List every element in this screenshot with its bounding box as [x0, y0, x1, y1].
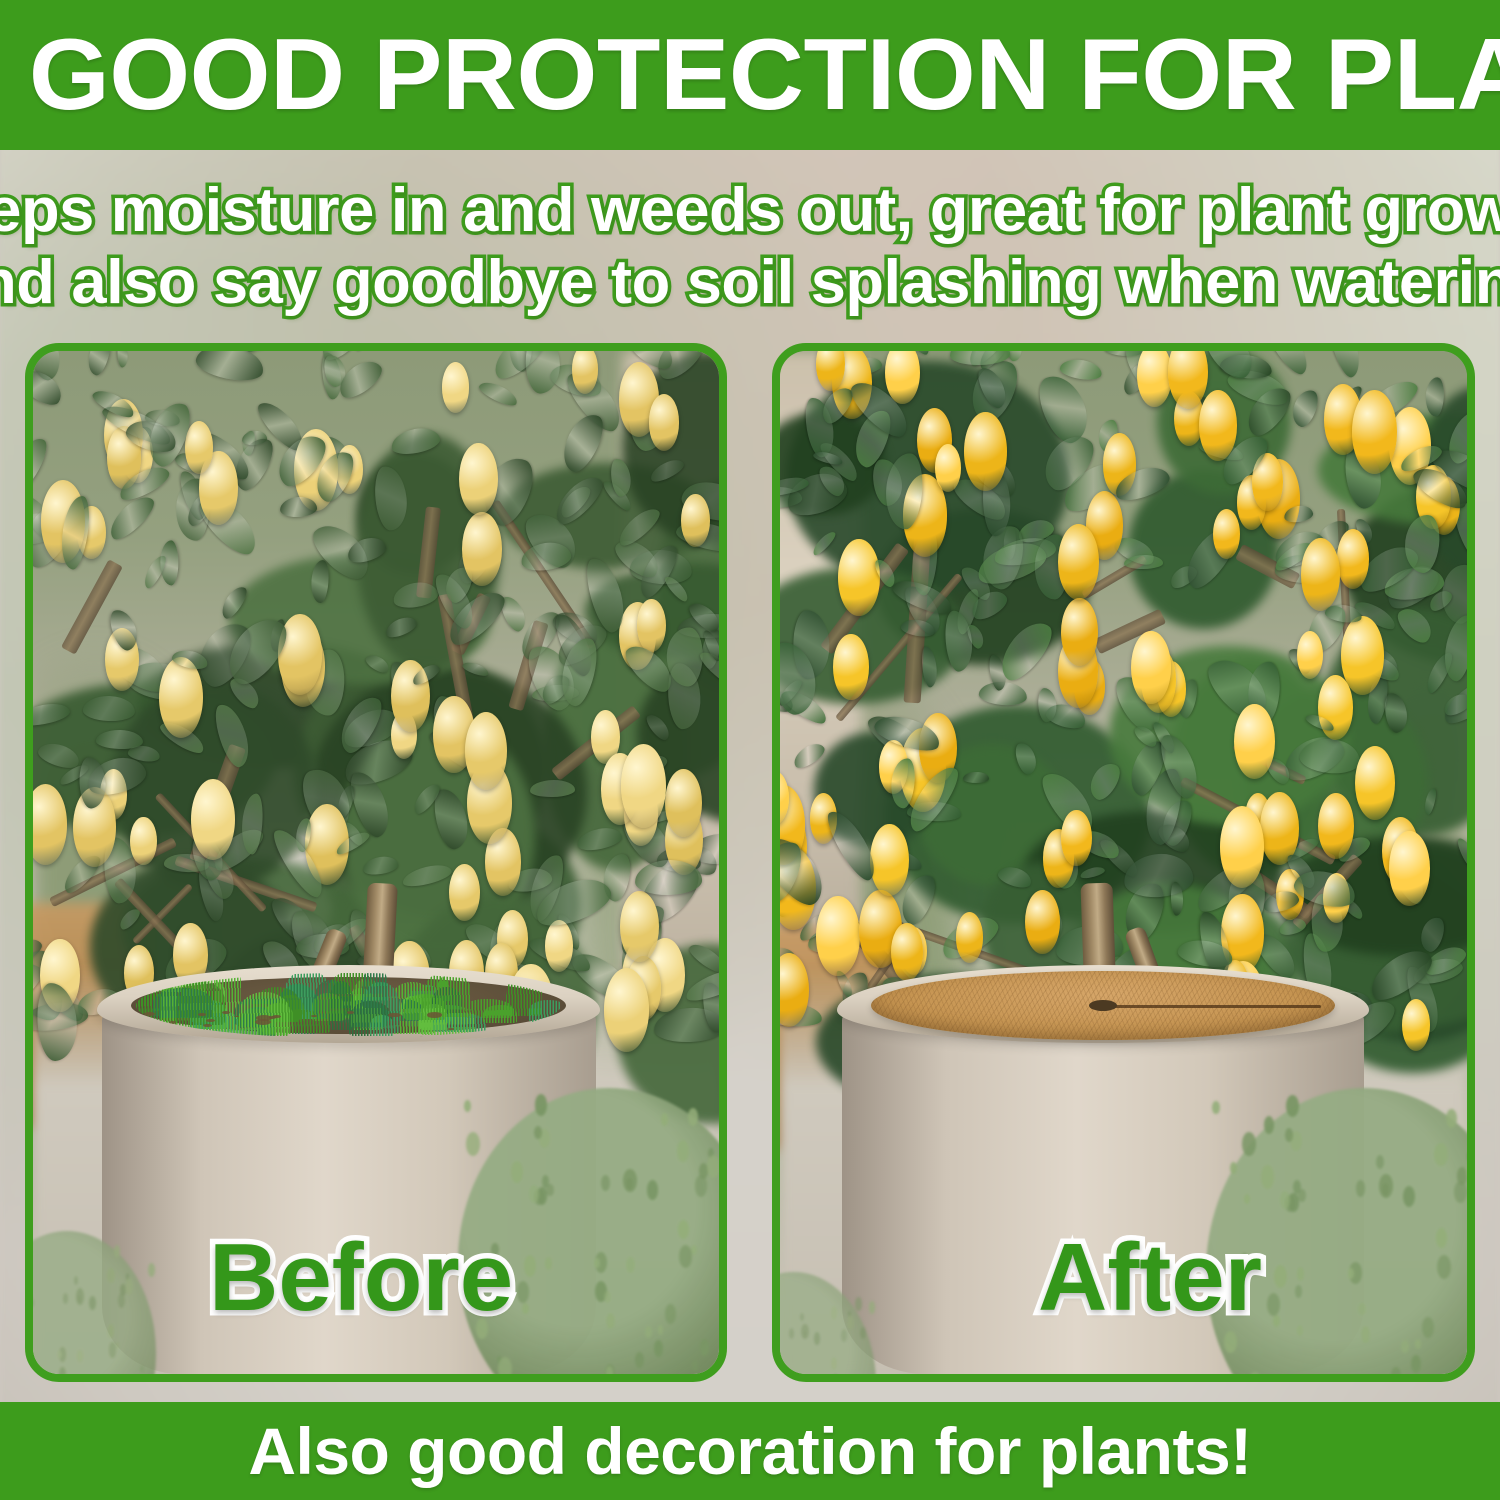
lemon-fruit: [870, 824, 909, 897]
creeper-leaf: [1248, 1372, 1263, 1374]
lemon-fruit: [649, 394, 679, 450]
lemon-fruit: [620, 891, 658, 962]
soil-crumb: [427, 1012, 442, 1018]
creeper-leaf: [125, 1278, 133, 1294]
lemon-fruit: [1025, 890, 1060, 954]
creeper-leaf: [626, 1257, 635, 1273]
lemon-fruit: [465, 712, 507, 790]
soil-crumb: [511, 1028, 518, 1031]
creeper-leaf: [545, 1257, 552, 1270]
creeper-leaf: [535, 1094, 547, 1115]
creeper-leaf: [118, 1293, 125, 1308]
subtitle-block: Keeps moisture in and weeds out, great f…: [0, 150, 1500, 343]
tree-leaf-front: [84, 351, 113, 378]
coconut-coir-mat: [871, 971, 1336, 1041]
lemon-fruit: [1213, 509, 1240, 560]
creeper-leaf: [1244, 1194, 1250, 1205]
coir-mat-center-hole: [1089, 1000, 1117, 1011]
creeper-leaf: [678, 1220, 689, 1239]
lemon-fruit: [1234, 704, 1275, 779]
creeper-leaf: [1224, 1331, 1237, 1353]
tree-leaf: [530, 779, 576, 796]
creeper-leaf: [860, 1327, 866, 1339]
soil-crumb: [138, 1017, 145, 1020]
tree-leaf-front: [194, 351, 267, 385]
page-title: GOOD PROTECTION FOR PLANTS: [0, 25, 1500, 126]
creeper-leaf: [1358, 1303, 1365, 1316]
creeper-leaf: [1422, 1317, 1434, 1338]
creeper-leaf: [707, 1155, 719, 1178]
creeper-leaf: [1348, 1268, 1354, 1279]
tree-leaf: [1324, 351, 1365, 379]
creeper-leaf: [1361, 1326, 1371, 1343]
lemon-fruit: [1220, 806, 1264, 888]
weed-tuft: [239, 992, 290, 1035]
creeper-leaf: [107, 1268, 114, 1283]
soil-crumb: [269, 1016, 276, 1019]
tree-leaf: [477, 377, 520, 408]
creeper-leaf: [677, 1140, 690, 1162]
creeper-leaf: [1297, 1267, 1305, 1280]
weed-tuft: [312, 993, 344, 1020]
footer-text: Also good decoration for plants!: [248, 1413, 1251, 1489]
lemon-fruit: [833, 634, 868, 700]
lemon-fruit: [449, 864, 480, 921]
weed-tuft: [483, 1005, 517, 1024]
creeper-leaf: [1391, 1367, 1401, 1374]
lemon-fruit: [1061, 810, 1091, 866]
creeper-leaf: [1297, 1325, 1303, 1336]
lemon-fruit: [665, 769, 702, 837]
creeper-leaf: [695, 1175, 707, 1196]
comparison-panels: Before After: [0, 343, 1500, 1384]
creeper-leaf: [1230, 1162, 1237, 1174]
creeper-leaf: [1379, 1174, 1393, 1199]
creeper-leaf: [604, 1291, 611, 1303]
lemon-fruit: [191, 779, 235, 860]
creeper-leaf: [665, 1304, 676, 1323]
lemon-fruit: [1131, 631, 1170, 704]
soil-crumb: [203, 1024, 212, 1027]
soil-crumb: [417, 1036, 430, 1039]
tree-leaf: [117, 351, 128, 368]
soil-crumb: [551, 1018, 561, 1023]
creeper-leaf: [58, 1351, 61, 1358]
creeper-leaf: [89, 1296, 96, 1310]
creeper-leaf: [1446, 1109, 1457, 1128]
creeper-leaf: [114, 1245, 120, 1258]
lemon-fruit: [935, 444, 961, 492]
tree-leaf-front: [635, 859, 703, 895]
creeper-leaf: [59, 1367, 66, 1374]
lemon-fruit: [838, 539, 880, 616]
caption-before: Before: [209, 1230, 513, 1326]
lemon-fruit: [1297, 631, 1323, 679]
creeper-leaf: [691, 1245, 697, 1255]
creeper-leaf: [511, 1161, 524, 1183]
creeper-leaf: [76, 1288, 84, 1305]
creeper-leaf: [33, 1351, 34, 1360]
creeper-leaf: [109, 1342, 117, 1358]
lemon-fruit: [130, 817, 156, 866]
lemon-fruit: [956, 912, 983, 963]
tree-leaf-front: [524, 351, 560, 395]
creeper-leaf: [1267, 1293, 1280, 1316]
creeper-leaf: [789, 1328, 794, 1338]
creeper-leaf: [800, 1313, 804, 1321]
creeper-leaf: [692, 1360, 698, 1371]
lemon-fruit: [1402, 999, 1430, 1051]
creeper-leaf: [74, 1276, 78, 1285]
subtitle-line-2: And also say goodbye to soil splashing w…: [0, 250, 1500, 316]
lemon-fruit: [964, 412, 1007, 491]
creeper-leaf: [623, 1169, 637, 1192]
lemon-fruit: [185, 421, 213, 474]
lemon-fruit: [462, 512, 502, 586]
creeper-leaf: [1273, 1315, 1280, 1327]
creeper-leaf: [1285, 1128, 1293, 1142]
creeper-leaf: [1459, 1354, 1467, 1371]
subtitle-line-1: Keeps moisture in and weeds out, great f…: [0, 178, 1500, 244]
creeper-leaf: [116, 1342, 120, 1349]
lemon-fruit: [1352, 390, 1397, 474]
lemon-fruit: [681, 494, 709, 547]
creeper-leaf: [688, 1108, 698, 1126]
weed-grass-area: [136, 973, 561, 1038]
creeper-leaf: [1274, 1265, 1287, 1288]
creeper-leaf: [606, 1313, 615, 1329]
creeper-leaf: [77, 1350, 82, 1361]
creeper-leaf: [1401, 1340, 1408, 1353]
soil-crumb: [169, 1021, 176, 1023]
tree-canopy-after: [780, 351, 1467, 1036]
creeper-leaf: [108, 1324, 115, 1338]
creeper-leaf: [1411, 1355, 1421, 1372]
creeper-leaf: [534, 1126, 541, 1139]
creeper-leaf: [594, 1258, 600, 1268]
creeper-leaf: [1261, 1165, 1274, 1188]
creeper-leaf: [1415, 1339, 1421, 1349]
weed-tuft: [370, 1015, 394, 1037]
tree-leaf-front: [160, 541, 178, 586]
lemon-fruit: [1389, 831, 1429, 905]
creeper-leaf: [1434, 1143, 1447, 1166]
creeper-leaf: [1454, 1181, 1467, 1204]
creeper-leaf: [1212, 1101, 1220, 1114]
creeper-leaf: [661, 1113, 668, 1126]
creeper-leaf: [841, 1329, 848, 1343]
creeper-leaf: [517, 1281, 530, 1303]
tree-leaf: [780, 534, 781, 577]
creeper-leaf: [647, 1180, 658, 1200]
creeper-leaf: [869, 1301, 875, 1314]
creeper-leaf: [658, 1325, 663, 1334]
creeper-leaf: [1436, 1228, 1448, 1248]
photo-before: Before: [33, 351, 719, 1374]
creeper-leaf: [831, 1306, 838, 1320]
creeper-leaf: [498, 1357, 512, 1374]
creeper-leaf: [700, 1339, 710, 1356]
tree-leaf-front: [33, 433, 52, 494]
lemon-fruit: [1337, 529, 1369, 589]
tree-leaf-front: [1288, 386, 1322, 429]
coir-mat-slit: [1103, 1005, 1321, 1008]
photo-after: After: [780, 351, 1467, 1374]
soil-crumb: [518, 1030, 524, 1032]
creeper-leaf: [529, 1185, 539, 1202]
creeper-leaf: [1356, 1180, 1366, 1197]
lemon-fruit: [1199, 390, 1237, 460]
creeper-leaf: [601, 1175, 610, 1191]
creeper-leaf: [1295, 1285, 1302, 1298]
soil-crumb: [448, 1028, 454, 1030]
creeper-leaf: [1376, 1155, 1384, 1169]
tree-leaf-front: [279, 496, 317, 518]
creeper-leaf: [1264, 1116, 1274, 1134]
lemon-fruit: [621, 744, 666, 828]
caption-after: After: [1038, 1230, 1262, 1326]
lemon-fruit: [637, 599, 666, 653]
header-banner: GOOD PROTECTION FOR PLANTS: [0, 0, 1500, 150]
creeper-leaf: [33, 1299, 34, 1308]
creeper-leaf: [524, 1255, 537, 1277]
creeper-leaf: [679, 1245, 692, 1268]
tree-leaf: [348, 351, 368, 352]
creeper-leaf: [63, 1293, 68, 1304]
panel-before: Before: [25, 343, 727, 1382]
creeper-leaf: [654, 1340, 664, 1357]
creeper-leaf: [831, 1357, 837, 1369]
footer-banner: Also good decoration for plants!: [0, 1402, 1500, 1500]
creeper-leaf: [1403, 1186, 1415, 1207]
creeper-leaf: [148, 1263, 155, 1277]
tree-leaf-front: [1059, 357, 1104, 383]
creeper-leaf: [522, 1303, 529, 1314]
creeper-leaf: [801, 1324, 808, 1339]
lemon-fruit: [1301, 538, 1340, 611]
creeper-leaf: [1286, 1095, 1299, 1118]
lemon-fruit: [1058, 524, 1099, 600]
creeper-leaf: [140, 1365, 144, 1373]
creeper-leaf: [635, 1352, 644, 1368]
creeper-leaf: [1437, 1255, 1451, 1279]
creeper-leaf: [1242, 1132, 1256, 1156]
soil-crumb: [160, 1030, 165, 1032]
creeper-leaf: [847, 1315, 854, 1330]
creeper-leaf: [814, 1332, 820, 1345]
lemon-fruit: [442, 362, 469, 413]
panel-after: After: [772, 343, 1475, 1382]
creeper-leaf: [645, 1326, 652, 1338]
lemon-fruit: [1318, 675, 1353, 739]
